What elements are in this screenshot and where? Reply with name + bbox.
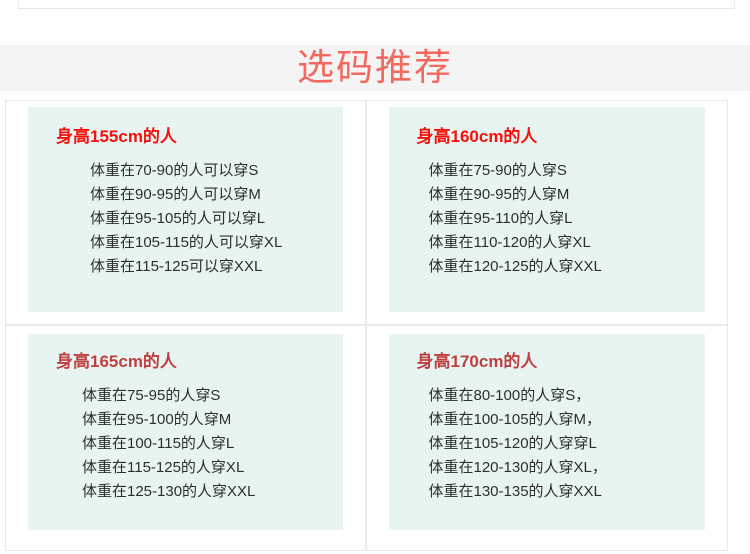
list-item: 体重在95-105的人可以穿L bbox=[90, 207, 343, 231]
list-item: 体重在90-95的人穿M bbox=[429, 183, 706, 207]
list-item: 体重在75-95的人穿S bbox=[82, 384, 343, 408]
list-item: 体重在95-100的人穿M bbox=[82, 408, 343, 432]
panel-height-160: 身高160cm的人 体重在75-90的人穿S 体重在90-95的人穿M 体重在9… bbox=[389, 107, 706, 312]
list-item: 体重在110-120的人穿XL bbox=[429, 231, 706, 255]
size-recommendation-table: 身高155cm的人 体重在70-90的人可以穿S 体重在90-95的人可以穿M … bbox=[5, 100, 728, 551]
list-item: 体重在105-115的人可以穿XL bbox=[90, 231, 343, 255]
size-cell-height-170: 身高170cm的人 体重在80-100的人穿S， 体重在100-105的人穿M，… bbox=[367, 326, 728, 551]
list-item: 体重在90-95的人可以穿M bbox=[90, 183, 343, 207]
list-item: 体重在105-120的人穿穿L bbox=[429, 432, 706, 456]
page-title: 选码推荐 bbox=[0, 42, 750, 94]
list-item: 体重在75-90的人穿S bbox=[429, 159, 706, 183]
size-line-list-160: 体重在75-90的人穿S 体重在90-95的人穿M 体重在95-110的人穿L … bbox=[389, 159, 706, 279]
list-item: 体重在115-125可以穿XXL bbox=[90, 255, 343, 279]
size-line-list-165: 体重在75-95的人穿S 体重在95-100的人穿M 体重在100-115的人穿… bbox=[28, 384, 343, 504]
panel-height-170: 身高170cm的人 体重在80-100的人穿S， 体重在100-105的人穿M，… bbox=[389, 334, 706, 531]
list-item: 体重在70-90的人可以穿S bbox=[90, 159, 343, 183]
size-line-list-155: 体重在70-90的人可以穿S 体重在90-95的人可以穿M 体重在95-105的… bbox=[28, 159, 343, 279]
size-line-list-170: 体重在80-100的人穿S， 体重在100-105的人穿M， 体重在105-12… bbox=[389, 384, 706, 504]
panel-heading-height-155: 身高155cm的人 bbox=[56, 125, 343, 149]
previous-section-card-edge bbox=[18, 0, 735, 9]
panel-heading-height-170: 身高170cm的人 bbox=[417, 350, 706, 374]
size-cell-height-165: 身高165cm的人 体重在75-95的人穿S 体重在95-100的人穿M 体重在… bbox=[6, 326, 367, 551]
panel-heading-height-165: 身高165cm的人 bbox=[56, 350, 343, 374]
list-item: 体重在120-130的人穿XL， bbox=[429, 456, 706, 480]
size-cell-height-155: 身高155cm的人 体重在70-90的人可以穿S 体重在90-95的人可以穿M … bbox=[6, 101, 367, 324]
list-item: 体重在100-115的人穿L bbox=[82, 432, 343, 456]
size-cell-height-160: 身高160cm的人 体重在75-90的人穿S 体重在90-95的人穿M 体重在9… bbox=[367, 101, 728, 324]
table-row: 身高155cm的人 体重在70-90的人可以穿S 体重在90-95的人可以穿M … bbox=[6, 101, 727, 326]
list-item: 体重在115-125的人穿XL bbox=[82, 456, 343, 480]
list-item: 体重在95-110的人穿L bbox=[429, 207, 706, 231]
panel-height-155: 身高155cm的人 体重在70-90的人可以穿S 体重在90-95的人可以穿M … bbox=[28, 107, 343, 312]
panel-height-165: 身高165cm的人 体重在75-95的人穿S 体重在95-100的人穿M 体重在… bbox=[28, 334, 343, 531]
panel-heading-height-160: 身高160cm的人 bbox=[417, 125, 706, 149]
list-item: 体重在125-130的人穿XXL bbox=[82, 480, 343, 504]
list-item: 体重在120-125的人穿XXL bbox=[429, 255, 706, 279]
list-item: 体重在100-105的人穿M， bbox=[429, 408, 706, 432]
table-row: 身高165cm的人 体重在75-95的人穿S 体重在95-100的人穿M 体重在… bbox=[6, 326, 727, 551]
list-item: 体重在130-135的人穿XXL bbox=[429, 480, 706, 504]
list-item: 体重在80-100的人穿S， bbox=[429, 384, 706, 408]
